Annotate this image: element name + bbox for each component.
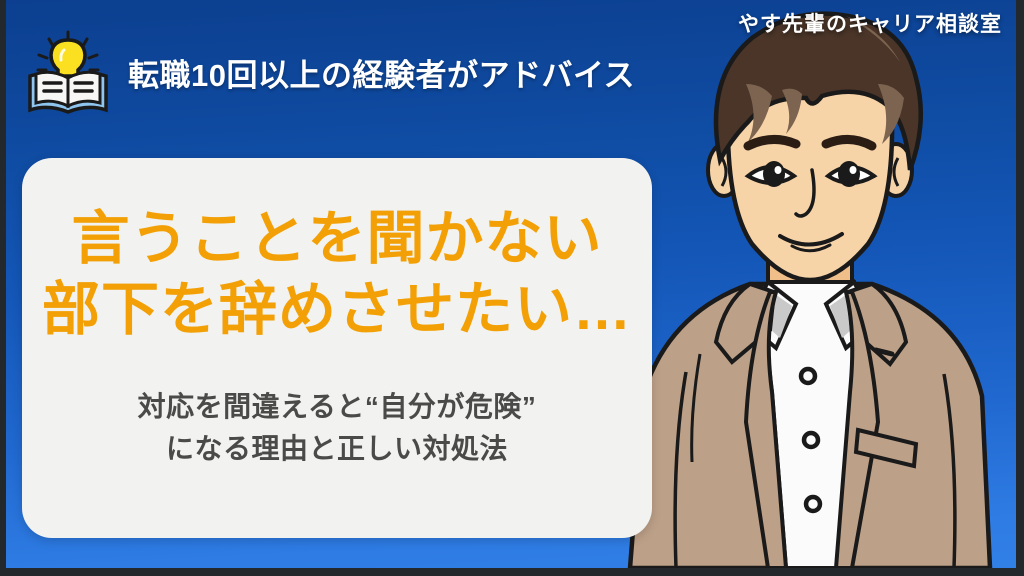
headline-line-1: 言うことを聞かない	[42, 204, 632, 275]
slide-canvas: やす先輩のキャリア相談室	[6, 0, 1016, 568]
content-card: 言うことを聞かない 部下を辞めさせたい… 対応を間違えると“自分が危険” になる…	[22, 158, 652, 538]
subtitle-line-1: 対応を間違えると“自分が危険”	[138, 386, 537, 428]
character-illustration	[600, 0, 1016, 568]
headline: 言うことを聞かない 部下を辞めさせたい…	[42, 204, 632, 346]
subtitle-line-2: になる理由と正しい対処法	[138, 428, 537, 470]
header-title: 転職10回以上の経験者がアドバイス	[128, 50, 635, 95]
slide-frame: やす先輩のキャリア相談室	[0, 0, 1024, 576]
book-lightbulb-icon	[22, 26, 114, 118]
header-row: 転職10回以上の経験者がアドバイス	[22, 26, 635, 118]
brand-tagline: やす先輩のキャリア相談室	[738, 8, 1002, 38]
subtitle: 対応を間違えると“自分が危険” になる理由と正しい対処法	[138, 386, 537, 470]
headline-line-2: 部下を辞めさせたい…	[42, 275, 632, 346]
